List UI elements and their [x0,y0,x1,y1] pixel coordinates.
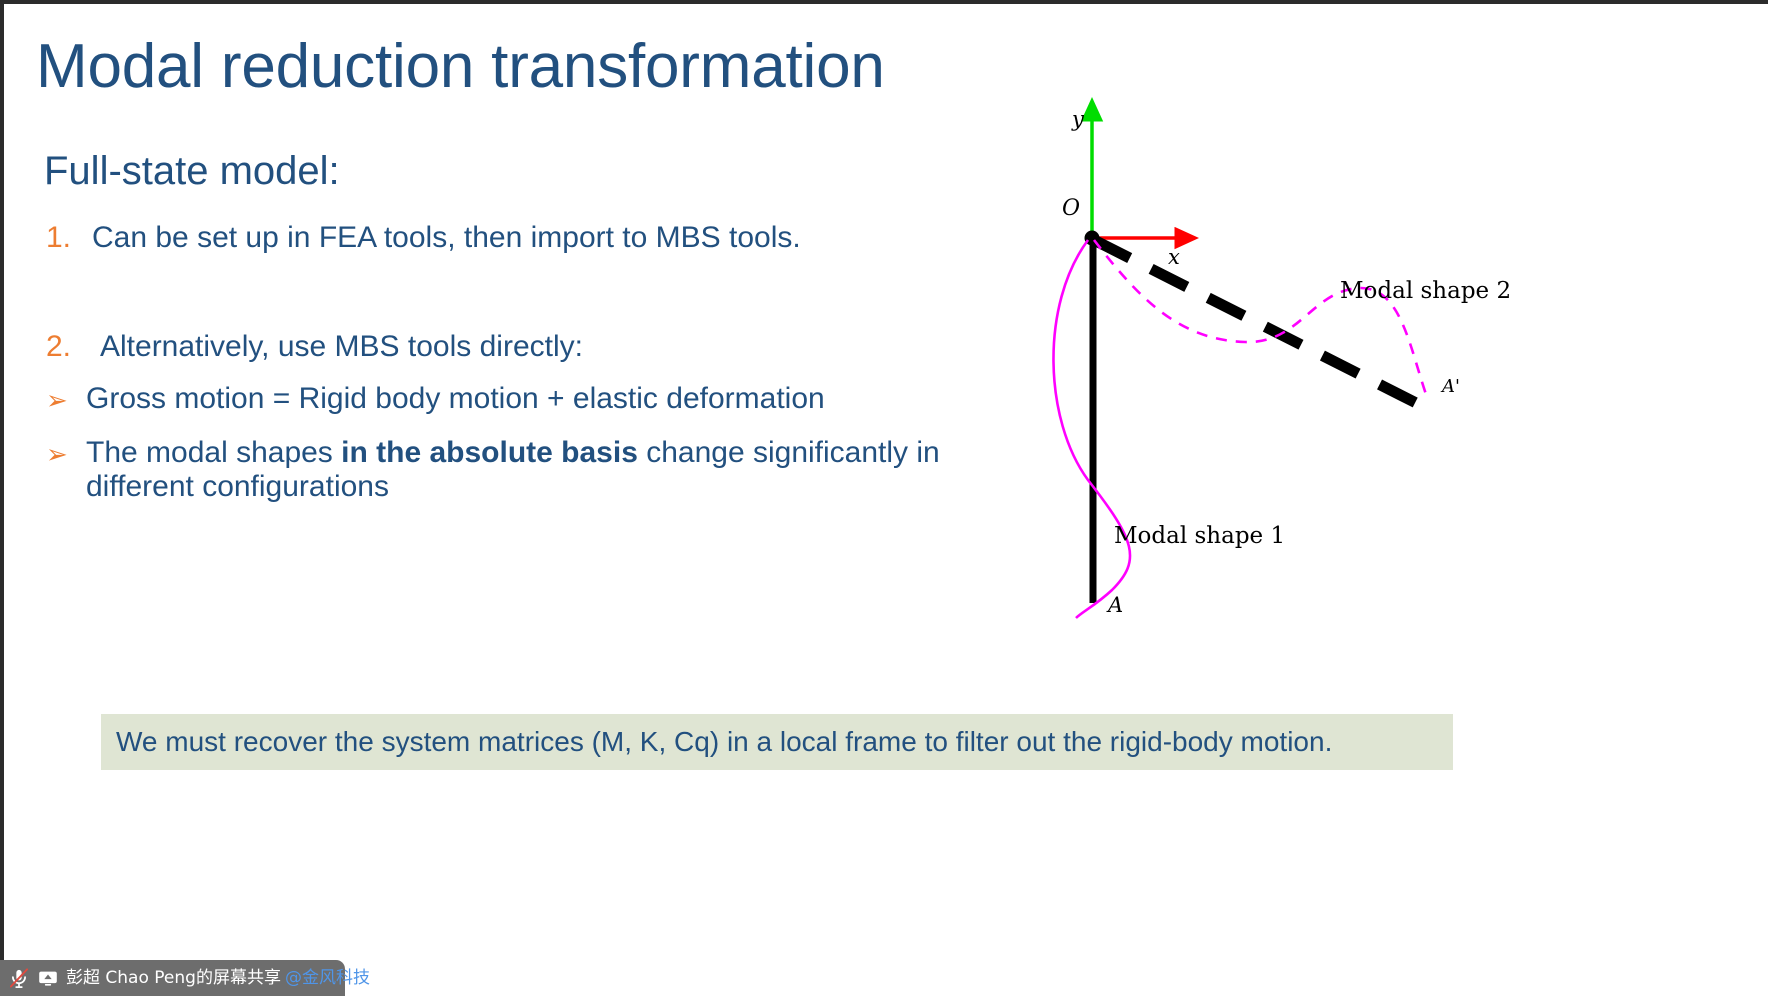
list-item-text-bold: in the absolute basis [341,436,638,469]
screen-share-label: 彭超 Chao Peng的屏幕共享 [66,968,281,988]
x-axis-label: x [1168,245,1180,269]
list-marker: 1. [46,218,92,258]
arrow-bullet-icon: ➢ [46,436,86,474]
y-axis-label: y [1071,107,1085,131]
subtitle-full-state-model: Full-state model: [44,146,340,196]
page-title: Modal reduction transformation [36,30,885,104]
list-item-text-before: The modal shapes [86,436,341,469]
list-item-label: The modal shapes in the absolute basis c… [86,436,976,504]
list-item-label: Gross motion = Rigid body motion + elast… [86,382,825,416]
slide-frame-left-border [0,0,4,962]
point-a-prime-label: A' [1440,376,1460,397]
list-item-label: Can be set up in FEA tools, then import … [92,218,801,258]
modal-shape-1-label: Modal shape 1 [1114,523,1285,549]
microphone-muted-icon[interactable] [8,967,30,989]
deformed-beam-dashed [1094,240,1430,410]
screen-share-taskbar[interactable]: 彭超 Chao Peng的屏幕共享 @金风科技 [0,960,345,996]
screen-share-icon[interactable] [37,967,59,989]
list-item-text-before: Gross motion = Rigid body motion + elast… [86,382,825,415]
slide-root: Modal reduction transformation Full-stat… [0,0,1768,996]
screen-share-org: @金风科技 [285,968,370,988]
list-item: 2. Alternatively, use MBS tools directly… [46,327,583,367]
point-a-label: A [1106,593,1123,617]
modal-shape-2-label: Modal shape 2 [1340,278,1511,304]
list-item: ➢ Gross motion = Rigid body motion + ela… [46,382,825,420]
list-item: ➢ The modal shapes in the absolute basis… [46,436,976,504]
list-marker: 2. [46,327,92,367]
modal-shape-2-curve [1094,240,1428,400]
list-item-label: Alternatively, use MBS tools directly: [92,327,583,367]
callout-text: We must recover the system matrices (M, … [101,725,1332,759]
origin-label: O [1062,196,1080,221]
callout-box: We must recover the system matrices (M, … [101,714,1453,770]
list-item: 1. Can be set up in FEA tools, then impo… [46,218,801,258]
slide-frame-top-border [0,0,1768,4]
arrow-bullet-icon: ➢ [46,382,86,420]
modal-shape-diagram: y x O A A' Modal shape 1 Modal shape 2 [1030,90,1550,630]
